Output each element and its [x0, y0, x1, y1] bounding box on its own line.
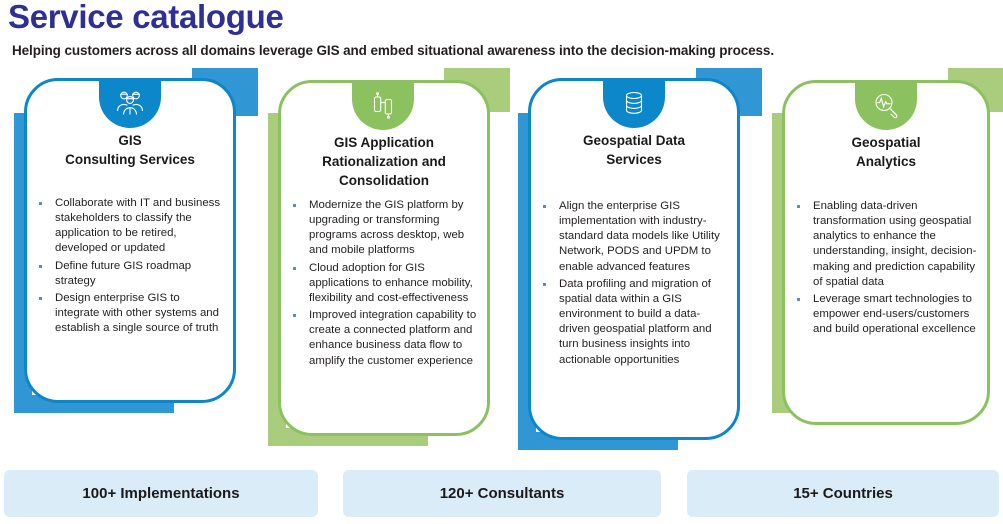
card-title: GIS ApplicationRationalization andConsol… — [278, 133, 490, 190]
list-item: Leverage smart technologies to empower e… — [794, 292, 984, 337]
stat-pill-implementations[interactable]: 100+ Implementations — [4, 470, 318, 517]
list-item: Modernize the GIS platform by upgrading … — [290, 198, 480, 259]
list-item: Define future GIS roadmap strategy — [36, 259, 226, 289]
stat-pill-countries[interactable]: 15+ Countries — [687, 470, 999, 517]
cards-row: GISConsulting Services Collaborate with … — [0, 68, 1003, 458]
page-subtitle: Helping customers across all domains lev… — [12, 43, 774, 58]
card-bullet-list: Modernize the GIS platform by upgrading … — [290, 198, 480, 371]
stats-row: 100+ Implementations 120+ Consultants 15… — [0, 470, 1003, 522]
stat-pill-consultants[interactable]: 120+ Consultants — [343, 470, 661, 517]
list-item: Cloud adoption for GIS applications to e… — [290, 261, 480, 306]
card-title: GISConsulting Services — [24, 131, 236, 169]
list-item: Improved integration capability to creat… — [290, 308, 480, 369]
card-bullet-list: Enabling data-driven transformation usin… — [794, 199, 984, 339]
card-title: Geospatial DataServices — [528, 131, 740, 169]
list-item: Design enterprise GIS to integrate with … — [36, 291, 226, 336]
list-item: Data profiling and migration of spatial … — [540, 277, 730, 368]
list-item: Align the enterprise GIS implementation … — [540, 199, 730, 275]
card-bullet-list: Collaborate with IT and business stakeho… — [36, 196, 226, 338]
list-item: Collaborate with IT and business stakeho… — [36, 196, 226, 257]
service-catalogue-slide: Service catalogue Helping customers acro… — [0, 0, 1003, 524]
page-title: Service catalogue — [8, 0, 284, 36]
card-bullet-list: Align the enterprise GIS implementation … — [540, 199, 730, 370]
card-title: GeospatialAnalytics — [782, 133, 990, 171]
list-item: Enabling data-driven transformation usin… — [794, 199, 984, 290]
